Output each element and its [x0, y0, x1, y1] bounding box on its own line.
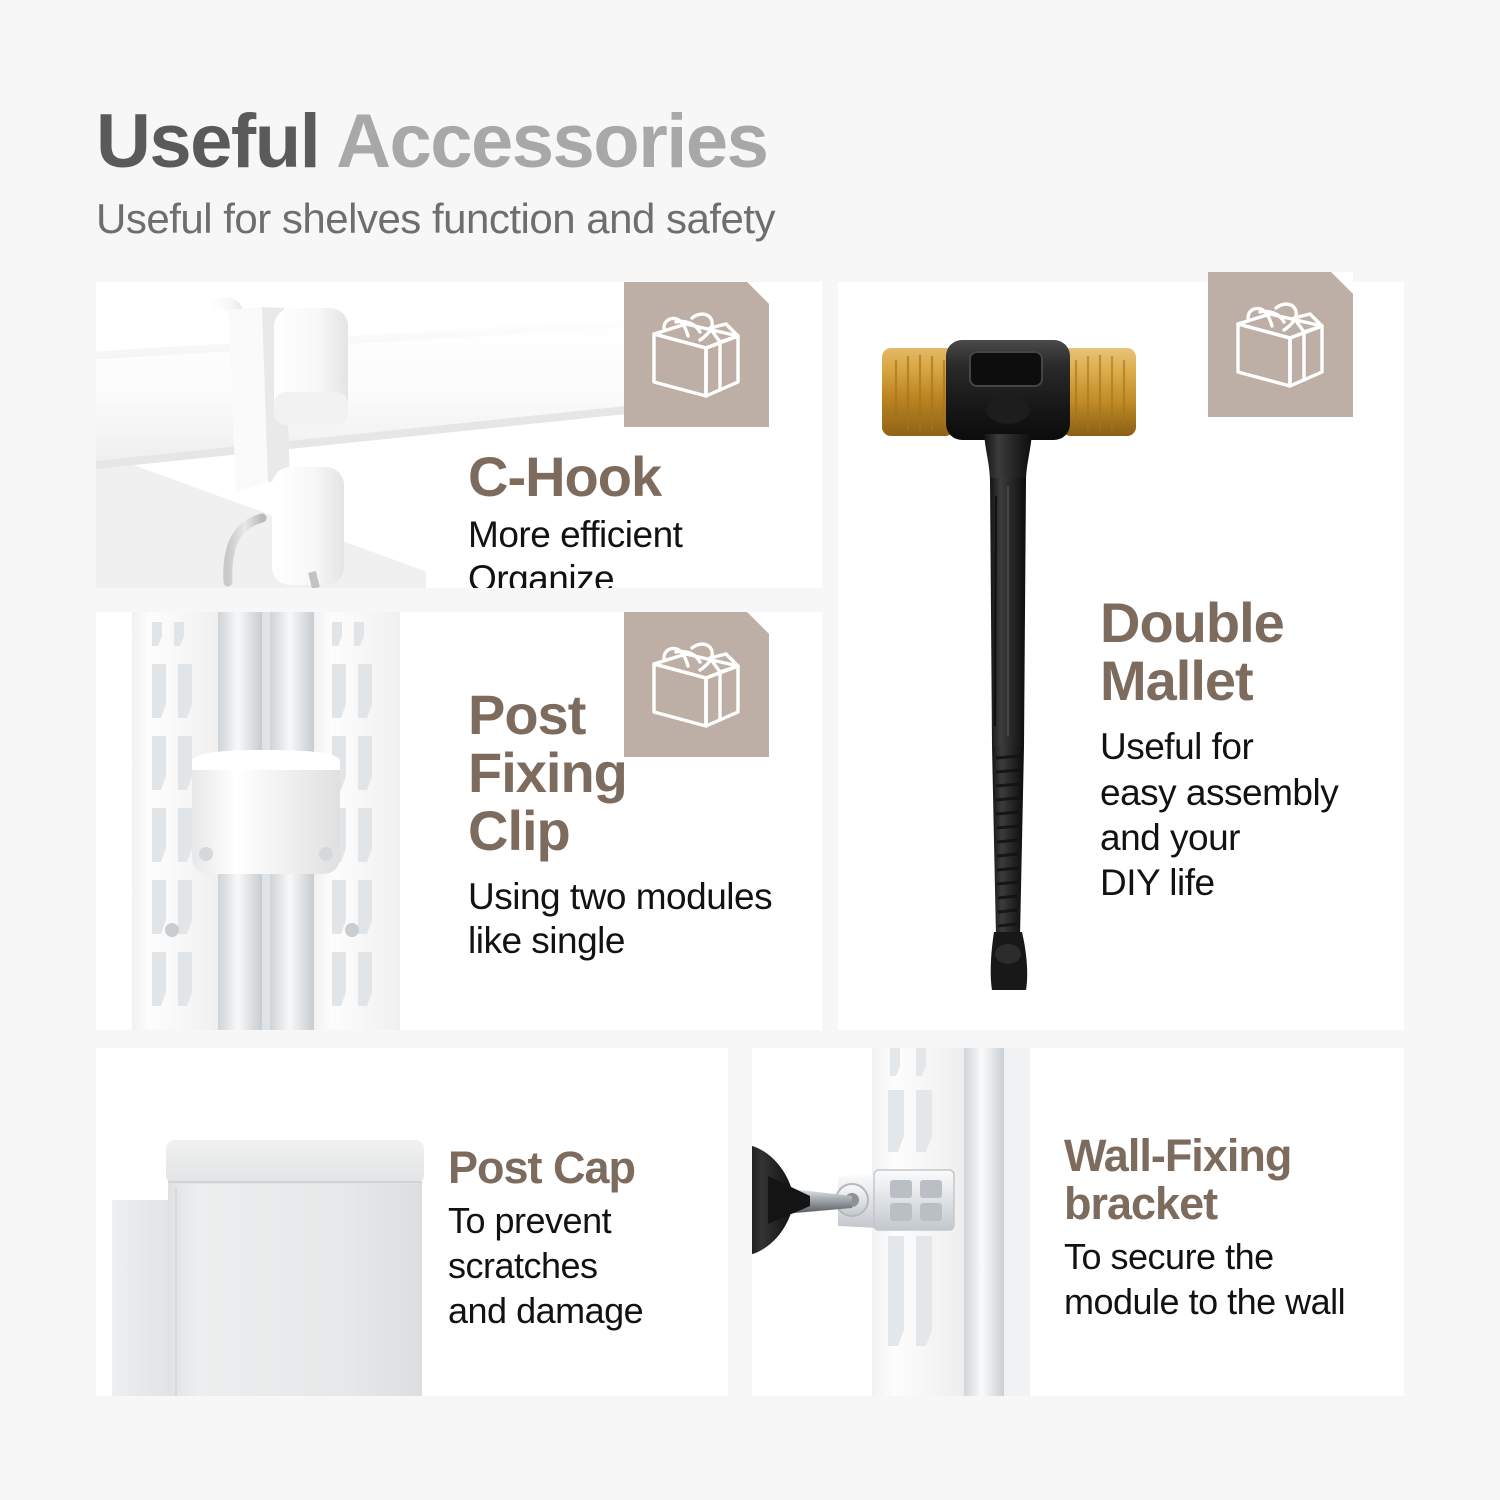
post-fixing-clip-description: Using two modules like single — [468, 875, 772, 964]
page-subtitle: Useful for shelves function and safety — [96, 196, 1296, 242]
post-fixing-clip-product-image — [126, 612, 406, 1030]
page-title-light: Accessories — [336, 99, 767, 184]
post-cap-title: Post Cap — [448, 1144, 643, 1191]
badge-fold-corner — [747, 612, 769, 634]
desc-line-1: Using two modules — [468, 875, 772, 919]
double-mallet-title: Double Mallet — [1100, 594, 1338, 710]
page-title: Useful Accessories — [96, 104, 1296, 180]
desc-line-1: To prevent — [448, 1199, 643, 1244]
gift-box-icon — [646, 306, 746, 404]
desc-line-2: scratches — [448, 1244, 643, 1289]
badge-fold-corner — [1331, 272, 1353, 294]
gift-box-badge-post-fixing-clip — [624, 612, 769, 757]
c-hook-text-block: C-Hook More efficient Organize — [468, 448, 822, 588]
gift-box-icon — [1230, 296, 1330, 394]
desc-line-2: easy assembly — [1100, 770, 1338, 815]
post-cap-product-image — [106, 1048, 446, 1396]
post-cap-description: To prevent scratches and damage — [448, 1199, 643, 1333]
desc-line-2: module to the wall — [1064, 1280, 1345, 1325]
card-wall-fixing-bracket: Wall-Fixing bracket To secure the module… — [752, 1048, 1404, 1396]
desc-line-1: To secure the — [1064, 1235, 1345, 1280]
wall-fixing-bracket-title: Wall-Fixing bracket — [1064, 1132, 1345, 1227]
title-line-1: Double — [1100, 594, 1338, 652]
title-line-1: Wall-Fixing — [1064, 1132, 1345, 1180]
badge-fold-corner — [747, 282, 769, 304]
wall-fixing-bracket-description: To secure the module to the wall — [1064, 1235, 1345, 1324]
gift-box-icon — [646, 636, 746, 734]
gift-box-badge-double-mallet — [1208, 272, 1353, 417]
desc-line-3: and damage — [448, 1289, 643, 1334]
title-line-2: bracket — [1064, 1180, 1345, 1228]
desc-line-3: and your — [1100, 815, 1338, 860]
double-mallet-text-block: Double Mallet Useful for easy assembly a… — [1100, 594, 1338, 905]
desc-line-4: DIY life — [1100, 860, 1338, 905]
post-cap-text-block: Post Cap To prevent scratches and damage — [448, 1144, 643, 1333]
page-header: Useful Accessories Useful for shelves fu… — [96, 104, 1296, 242]
title-line-2: Mallet — [1100, 652, 1338, 710]
wall-fixing-bracket-text-block: Wall-Fixing bracket To secure the module… — [1064, 1132, 1345, 1325]
page-title-strong: Useful — [96, 99, 319, 184]
title-line-3: Clip — [468, 802, 772, 860]
card-post-cap: Post Cap To prevent scratches and damage — [96, 1048, 728, 1396]
c-hook-description: More efficient Organize — [468, 513, 822, 588]
c-hook-title: C-Hook — [468, 448, 822, 507]
desc-line-1: Useful for — [1100, 724, 1338, 769]
double-mallet-description: Useful for easy assembly and your DIY li… — [1100, 724, 1338, 905]
gift-box-badge-c-hook — [624, 282, 769, 427]
desc-line-2: like single — [468, 919, 772, 963]
wall-fixing-bracket-product-image — [752, 1048, 1070, 1396]
